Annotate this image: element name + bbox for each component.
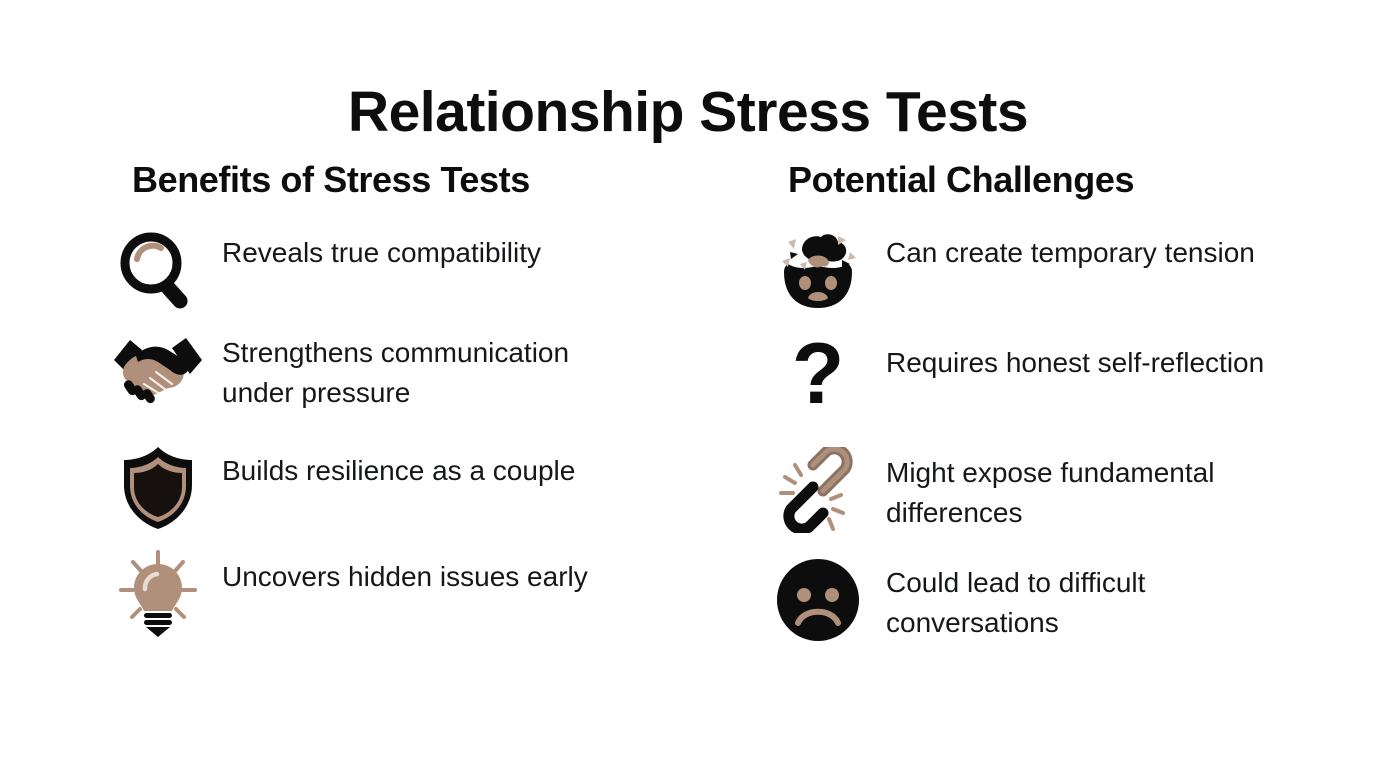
benefits-column-heading: Benefits of Stress Tests	[132, 158, 670, 201]
two-column-layout: Benefits of Stress Tests Reveals true co…	[0, 158, 1376, 758]
magnifying-glass-icon	[110, 227, 206, 313]
list-item: ? Requires honest self-reflection	[770, 337, 1330, 433]
list-item: Strengthens communication under pressure	[110, 327, 670, 439]
list-item-label: Might expose fundamental differences	[886, 447, 1286, 533]
frowning-face-icon	[770, 557, 866, 643]
svg-text:?: ?	[792, 337, 845, 422]
list-item: Reveals true compatibility	[110, 227, 670, 313]
list-item-label: Could lead to difficult conversations	[886, 557, 1286, 643]
exploding-head-icon	[770, 227, 866, 313]
challenges-column-heading: Potential Challenges	[788, 158, 1330, 201]
list-item: Can create temporary tension	[770, 227, 1330, 323]
handshake-icon	[110, 327, 206, 413]
list-item: Uncovers hidden issues early	[110, 551, 670, 637]
benefits-column: Benefits of Stress Tests Reveals true co…	[110, 158, 670, 653]
challenges-column: Potential Challenges	[770, 158, 1330, 659]
question-mark-icon: ?	[770, 337, 866, 423]
shield-icon	[110, 445, 206, 531]
benefits-list: Reveals true compatibility	[110, 227, 670, 637]
list-item: Might expose fundamental differences	[770, 447, 1330, 543]
broken-chain-icon	[770, 447, 866, 533]
list-item-label: Reveals true compatibility	[222, 227, 541, 273]
lightbulb-icon	[110, 551, 206, 637]
slide-canvas: Relationship Stress Tests Benefits of St…	[0, 0, 1376, 768]
list-item-label: Can create temporary tension	[886, 227, 1255, 273]
list-item-label: Requires honest self-reflection	[886, 337, 1264, 383]
page-title: Relationship Stress Tests	[0, 82, 1376, 144]
list-item-label: Builds resilience as a couple	[222, 445, 575, 491]
list-item-label: Uncovers hidden issues early	[222, 551, 588, 597]
list-item-label: Strengthens communication under pressure	[222, 327, 612, 413]
challenges-list: Can create temporary tension ? Requires …	[770, 227, 1330, 643]
list-item: Could lead to difficult conversations	[770, 557, 1330, 643]
list-item: Builds resilience as a couple	[110, 445, 670, 541]
